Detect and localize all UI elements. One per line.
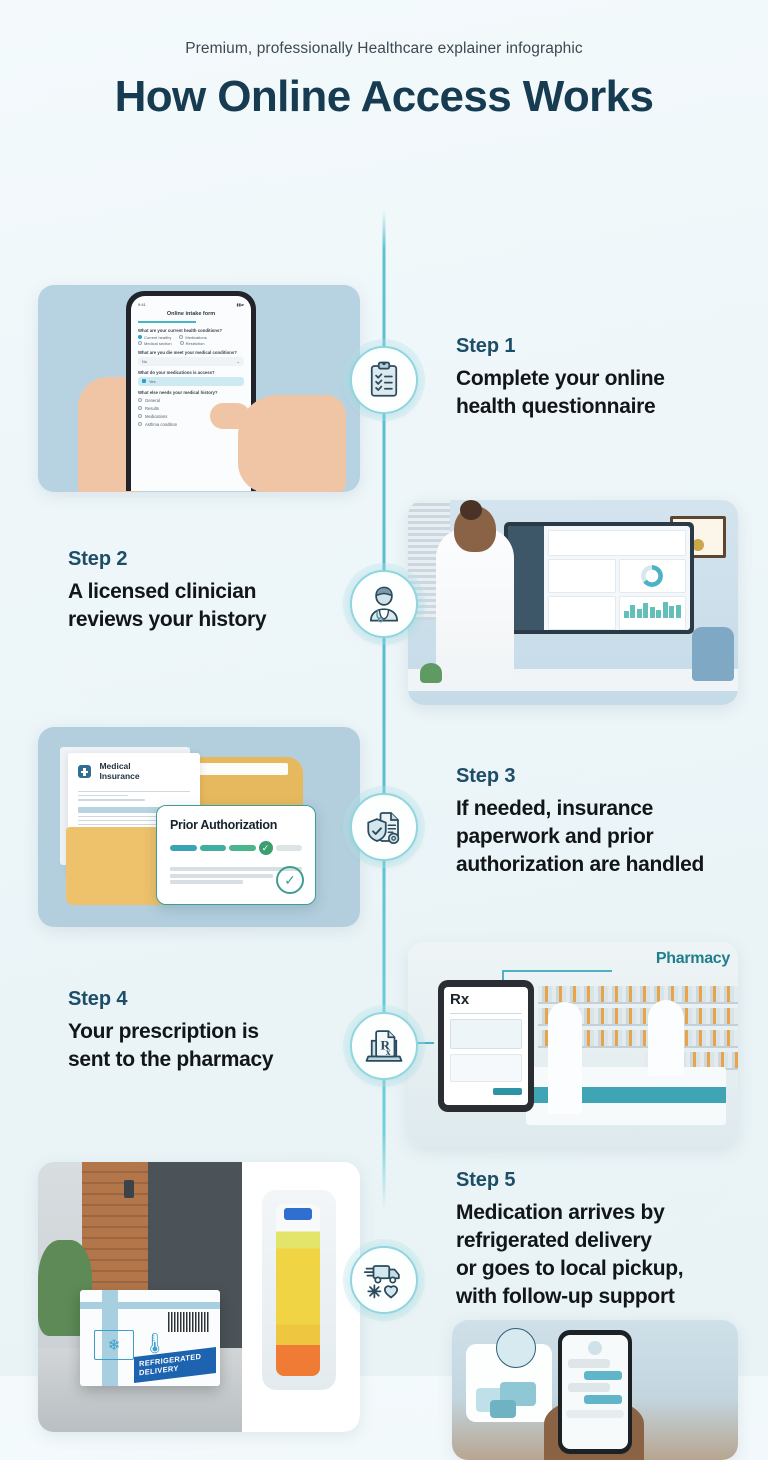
step-3-label: Step 3 xyxy=(456,765,756,788)
form-option[interactable]: Medical section xyxy=(138,341,172,346)
step-2-label: Step 2 xyxy=(68,548,368,571)
form-question-2: What are you die meet your medical condi… xyxy=(138,350,244,355)
header-eyebrow: Premium, professionally Healthcare expla… xyxy=(0,40,768,58)
step-5-image: ❄ 🌡 REFRIGERATED DELIVERY xyxy=(38,1162,360,1432)
auto-injector-pen xyxy=(276,1204,320,1376)
progress-segment xyxy=(170,845,197,851)
card-line xyxy=(170,874,273,878)
page-title: How Online Access Works xyxy=(0,72,768,122)
clinician-avatar-icon xyxy=(496,1328,536,1368)
radio-icon xyxy=(138,414,142,418)
form-question-3: What do your medications is access? xyxy=(138,370,244,375)
form-question-1: What are your current health conditions? xyxy=(138,328,244,333)
radio-selected-icon xyxy=(138,335,142,339)
radio-icon xyxy=(138,341,142,345)
clipboard-checklist-icon xyxy=(363,359,405,401)
step-3-badge xyxy=(350,793,418,861)
pen-cap xyxy=(284,1208,312,1220)
patient-profile-card xyxy=(548,530,686,556)
delivery-box: ❄ 🌡 REFRIGERATED DELIVERY xyxy=(80,1290,220,1386)
step-2-text: Step 2 A licensed clinician reviews your… xyxy=(68,548,368,634)
step-3-text: Step 3 If needed, insurance paperwork an… xyxy=(456,765,756,879)
progress-segment xyxy=(200,845,227,851)
chat-avatar xyxy=(588,1341,602,1355)
document-title: MedicalInsurance xyxy=(99,762,139,782)
prescription-details xyxy=(450,1054,522,1082)
rx-symbol: Rx xyxy=(450,993,522,1007)
dropdown-value: No xyxy=(142,359,147,364)
refrigerated-delivery-truck-icon xyxy=(363,1259,405,1301)
clinician-head xyxy=(454,506,496,552)
prescription-block xyxy=(450,1019,522,1049)
step-3-description: If needed, insurance paperwork and prior… xyxy=(456,795,756,879)
form-selected-answer[interactable]: Yes xyxy=(138,377,244,386)
option-label: Restriction xyxy=(186,341,205,346)
form-dropdown[interactable]: No ⌄ xyxy=(138,357,244,366)
phone-intake-illustration: 9:41 ▮▮▰ Online intake form What are you… xyxy=(38,285,360,492)
card-line xyxy=(170,880,243,884)
form-option[interactable]: Restriction xyxy=(180,341,205,346)
form-question-4: What else needs your medical history? xyxy=(138,390,244,395)
metrics-widget xyxy=(548,559,615,593)
medication-panel xyxy=(242,1162,360,1432)
chevron-down-icon: ⌄ xyxy=(237,359,240,364)
dashboard-widgets-row2 xyxy=(548,596,686,630)
option-label: Medical section xyxy=(144,341,172,346)
prescription-line xyxy=(450,1013,522,1015)
chat-bubble xyxy=(490,1400,516,1418)
phone-screen: 9:41 ▮▮▰ Online intake form What are you… xyxy=(131,296,251,491)
chat-screen xyxy=(562,1335,628,1449)
right-hand-pointing xyxy=(238,395,346,492)
step-1-text: Step 1 Complete your online health quest… xyxy=(456,335,746,421)
step-5-secondary-image xyxy=(452,1320,738,1460)
infographic-header: Premium, professionally Healthcare expla… xyxy=(0,0,768,122)
bar-chart-widget xyxy=(619,596,686,630)
verified-seal-icon: ✓ xyxy=(276,866,304,894)
radio-icon xyxy=(179,335,183,339)
pharmacy-illustration: Pharmacy Rx xyxy=(408,942,738,1147)
svg-text:x: x xyxy=(386,1047,391,1058)
outgoing-message xyxy=(584,1395,622,1404)
option-label: General xyxy=(145,398,160,403)
clinician-stethoscope-icon xyxy=(363,583,405,625)
potted-plant xyxy=(420,663,442,683)
status-icons: ▮▮▰ xyxy=(237,302,244,307)
tablet-screen: Rx xyxy=(444,987,528,1105)
step-5-label: Step 5 xyxy=(456,1169,756,1192)
step-5-badge xyxy=(350,1246,418,1314)
list-widget xyxy=(548,596,615,630)
snowflake-icon: ❄ xyxy=(94,1330,134,1360)
form-option[interactable]: Current healthy xyxy=(138,335,171,340)
selected-value: Yes xyxy=(149,379,156,384)
form-list-item[interactable]: General xyxy=(138,398,244,403)
step-2-image xyxy=(408,500,738,705)
progress-segment xyxy=(276,845,303,851)
hair-bun xyxy=(460,500,482,520)
medical-cross-icon xyxy=(78,765,91,778)
document-line xyxy=(78,799,145,801)
document-line xyxy=(78,791,190,793)
dashboard-widgets xyxy=(548,559,686,593)
arrow-to-pharmacy xyxy=(502,970,612,972)
doorbell-camera xyxy=(124,1180,134,1198)
radio-icon xyxy=(138,422,142,426)
progress-check-icon: ✓ xyxy=(259,841,273,855)
step-2-badge xyxy=(350,570,418,638)
phone-nav-title: Online intake form xyxy=(138,311,244,317)
prior-authorization-title: Prior Authorization xyxy=(170,818,302,832)
step-4-image: Pharmacy Rx xyxy=(408,942,738,1147)
step-1-badge xyxy=(350,346,418,414)
option-label: Current healthy xyxy=(144,335,171,340)
step-3-image: MedicalInsurance Prior Authorization ✓ xyxy=(38,727,360,927)
form-options-row-1: Current healthy Medications xyxy=(138,335,244,340)
phone-status-bar: 9:41 ▮▮▰ xyxy=(138,302,244,307)
step-4-description: Your prescription is sent to the pharmac… xyxy=(68,1018,368,1074)
desktop-monitor xyxy=(504,522,694,634)
pharmacist-figure xyxy=(648,1000,684,1076)
support-phone xyxy=(558,1330,632,1454)
incoming-message xyxy=(568,1383,610,1392)
clinician-figure xyxy=(436,528,514,678)
follow-up-support-illustration xyxy=(452,1320,738,1460)
option-label: Results xyxy=(145,406,159,411)
document-header: MedicalInsurance xyxy=(78,762,190,782)
step-1-label: Step 1 xyxy=(456,335,746,358)
prior-authorization-card: Prior Authorization ✓ ✓ xyxy=(156,805,316,905)
index-finger xyxy=(210,403,250,429)
progress-segment xyxy=(229,845,256,851)
option-label: Medications xyxy=(145,414,167,419)
thermometer-icon: 🌡 xyxy=(142,1331,167,1356)
step-2-description: A licensed clinician reviews your histor… xyxy=(68,578,368,634)
dashboard-main xyxy=(544,526,690,630)
barcode xyxy=(168,1312,210,1332)
rx-laptop-icon: R x xyxy=(363,1025,405,1067)
blister-pack xyxy=(262,1190,336,1390)
monitor-screen xyxy=(508,526,690,630)
status-time: 9:41 xyxy=(138,302,146,307)
radio-icon xyxy=(138,406,142,410)
step-1-description: Complete your online health questionnair… xyxy=(456,365,746,421)
box-tape-horizontal xyxy=(80,1302,220,1309)
step-5-description: Medication arrives by refrigerated deliv… xyxy=(456,1199,756,1311)
step-4-text: Step 4 Your prescription is sent to the … xyxy=(68,988,368,1074)
phone-progress-rule xyxy=(138,321,196,323)
smartphone-mockup: 9:41 ▮▮▰ Online intake form What are you… xyxy=(126,291,256,491)
checkbox-checked-icon xyxy=(142,379,146,383)
bar-chart xyxy=(620,597,685,621)
tablet-submit-button[interactable] xyxy=(493,1088,522,1095)
option-label: Medications xyxy=(185,335,206,340)
document-line xyxy=(78,795,128,797)
office-chair xyxy=(692,627,734,681)
progress-bar: ✓ xyxy=(170,841,302,855)
insurance-paperwork-illustration: MedicalInsurance Prior Authorization ✓ xyxy=(38,727,360,927)
pharmacy-sign: Pharmacy xyxy=(656,950,730,968)
clinician-dashboard-illustration xyxy=(408,500,738,705)
customer-figure xyxy=(548,1002,582,1114)
form-option[interactable]: Medications xyxy=(179,335,206,340)
incoming-message xyxy=(568,1359,610,1368)
refrigerated-delivery-illustration: ❄ 🌡 REFRIGERATED DELIVERY xyxy=(38,1162,360,1432)
option-label: Asthma condition xyxy=(145,422,177,427)
radio-icon xyxy=(138,398,142,402)
step-1-image: 9:41 ▮▮▰ Online intake form What are you… xyxy=(38,285,360,492)
donut-chart xyxy=(641,565,663,587)
tablet-device: Rx xyxy=(438,980,534,1112)
shield-document-gear-icon xyxy=(363,806,405,848)
step-4-badge: R x xyxy=(350,1012,418,1080)
radio-icon xyxy=(180,341,184,345)
message-input[interactable] xyxy=(566,1410,624,1418)
donut-widget xyxy=(619,559,686,593)
form-options-row-2: Medical section Restriction xyxy=(138,341,244,346)
step-5-text: Step 5 Medication arrives by refrigerate… xyxy=(456,1169,756,1311)
step-4-label: Step 4 xyxy=(68,988,368,1011)
